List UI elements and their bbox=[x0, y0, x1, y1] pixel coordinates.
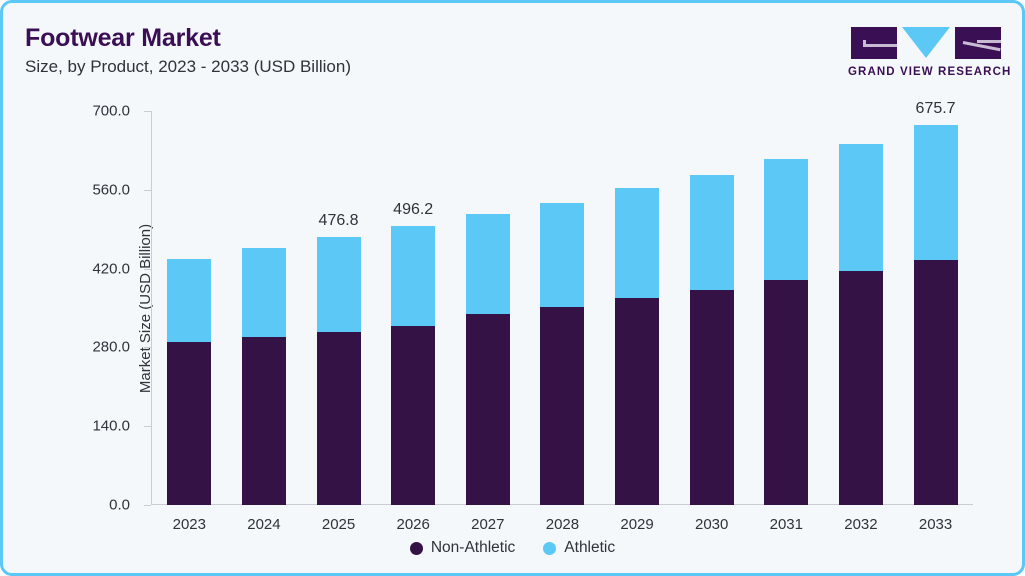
grand-view-research-logo: GRAND VIEW RESEARCH bbox=[848, 27, 1004, 78]
logo-g-icon bbox=[851, 27, 897, 59]
infographic-card: Footwear Market Size, by Product, 2023 -… bbox=[0, 0, 1025, 576]
bar-value-label: 675.7 bbox=[916, 100, 956, 118]
bar-group[interactable]: 675.72033 bbox=[914, 111, 958, 505]
x-axis-tick-label: 2024 bbox=[247, 516, 280, 533]
bar-segment-athletic[interactable] bbox=[167, 259, 211, 342]
x-axis-tick-label: 2029 bbox=[620, 516, 653, 533]
y-axis-tick: 420.0 bbox=[144, 269, 151, 270]
chart-header: Footwear Market Size, by Product, 2023 -… bbox=[25, 25, 665, 77]
bar-series-container: 20232024476.82025496.2202620272028202920… bbox=[152, 111, 973, 505]
chart-subtitle: Size, by Product, 2023 - 2033 (USD Billi… bbox=[25, 57, 665, 77]
bar-segment-athletic[interactable] bbox=[914, 125, 958, 260]
bar-segment-non-athletic[interactable] bbox=[914, 260, 958, 505]
bar-group[interactable]: 2027 bbox=[466, 111, 510, 505]
bar-segment-non-athletic[interactable] bbox=[391, 326, 435, 505]
legend-item[interactable]: Athletic bbox=[543, 539, 615, 557]
bar-segment-non-athletic[interactable] bbox=[317, 332, 361, 505]
legend-item-label: Athletic bbox=[564, 539, 615, 557]
logo-v-triangle-icon bbox=[902, 27, 950, 58]
y-axis-tick-label: 700.0 bbox=[92, 103, 130, 120]
x-axis-tick-label: 2023 bbox=[173, 516, 206, 533]
bar-segment-athletic[interactable] bbox=[391, 226, 435, 326]
bar-value-label: 476.8 bbox=[319, 212, 359, 230]
bar-segment-non-athletic[interactable] bbox=[540, 307, 584, 505]
x-axis-tick-label: 2028 bbox=[546, 516, 579, 533]
bar-segment-non-athletic[interactable] bbox=[167, 342, 211, 505]
bar-group[interactable]: 2030 bbox=[690, 111, 734, 505]
y-axis-tick: 140.0 bbox=[144, 426, 151, 427]
bar-segment-athletic[interactable] bbox=[764, 159, 808, 280]
bar-group[interactable]: 2024 bbox=[242, 111, 286, 505]
bar-group[interactable]: 2032 bbox=[839, 111, 883, 505]
x-axis-tick-label: 2032 bbox=[844, 516, 877, 533]
y-axis-tick-label: 280.0 bbox=[92, 339, 130, 356]
x-axis-tick-label: 2030 bbox=[695, 516, 728, 533]
bar-group[interactable]: 2031 bbox=[764, 111, 808, 505]
x-axis-tick-label: 2025 bbox=[322, 516, 355, 533]
y-axis-tick: 280.0 bbox=[144, 347, 151, 348]
bar-segment-non-athletic[interactable] bbox=[839, 271, 883, 505]
y-axis-tick: 560.0 bbox=[144, 190, 151, 191]
bar-segment-athletic[interactable] bbox=[615, 188, 659, 298]
legend-color-dot bbox=[543, 542, 556, 555]
chart-legend: Non-AthleticAthletic bbox=[3, 539, 1022, 557]
logo-r-icon bbox=[955, 27, 1001, 59]
page-title: Footwear Market bbox=[25, 25, 665, 53]
y-axis-tick-label: 0.0 bbox=[109, 497, 130, 514]
y-axis-tick-label: 140.0 bbox=[92, 418, 130, 435]
legend-item[interactable]: Non-Athletic bbox=[410, 539, 515, 557]
bar-group[interactable]: 2028 bbox=[540, 111, 584, 505]
legend-color-dot bbox=[410, 542, 423, 555]
bar-segment-non-athletic[interactable] bbox=[466, 314, 510, 505]
bar-group[interactable]: 496.22026 bbox=[391, 111, 435, 505]
bar-group[interactable]: 476.82025 bbox=[317, 111, 361, 505]
bar-group[interactable]: 2029 bbox=[615, 111, 659, 505]
logo-text: GRAND VIEW RESEARCH bbox=[848, 66, 1004, 78]
bar-segment-athletic[interactable] bbox=[466, 214, 510, 314]
bar-segment-athletic[interactable] bbox=[540, 203, 584, 307]
y-axis-tick-label: 420.0 bbox=[92, 260, 130, 277]
bar-group[interactable]: 2023 bbox=[167, 111, 211, 505]
bar-segment-non-athletic[interactable] bbox=[242, 337, 286, 505]
bar-value-label: 496.2 bbox=[393, 201, 433, 219]
bar-segment-athletic[interactable] bbox=[690, 175, 734, 290]
y-axis-tick-label: 560.0 bbox=[92, 181, 130, 198]
bar-segment-non-athletic[interactable] bbox=[690, 290, 734, 505]
x-axis-tick-label: 2033 bbox=[919, 516, 952, 533]
x-axis-tick-label: 2027 bbox=[471, 516, 504, 533]
bar-segment-non-athletic[interactable] bbox=[615, 298, 659, 505]
bar-segment-athletic[interactable] bbox=[317, 237, 361, 332]
y-axis-tick: 700.0 bbox=[144, 111, 151, 112]
plot-area: 0.0140.0280.0420.0560.0700.0 20232024476… bbox=[151, 111, 973, 505]
bar-segment-non-athletic[interactable] bbox=[764, 280, 808, 505]
bar-segment-athletic[interactable] bbox=[839, 144, 883, 271]
x-axis-tick-label: 2031 bbox=[770, 516, 803, 533]
y-axis-tick: 0.0 bbox=[144, 505, 151, 506]
x-axis-tick-label: 2026 bbox=[397, 516, 430, 533]
bar-segment-athletic[interactable] bbox=[242, 248, 286, 337]
logo-marks bbox=[848, 27, 1004, 59]
legend-item-label: Non-Athletic bbox=[431, 539, 515, 557]
